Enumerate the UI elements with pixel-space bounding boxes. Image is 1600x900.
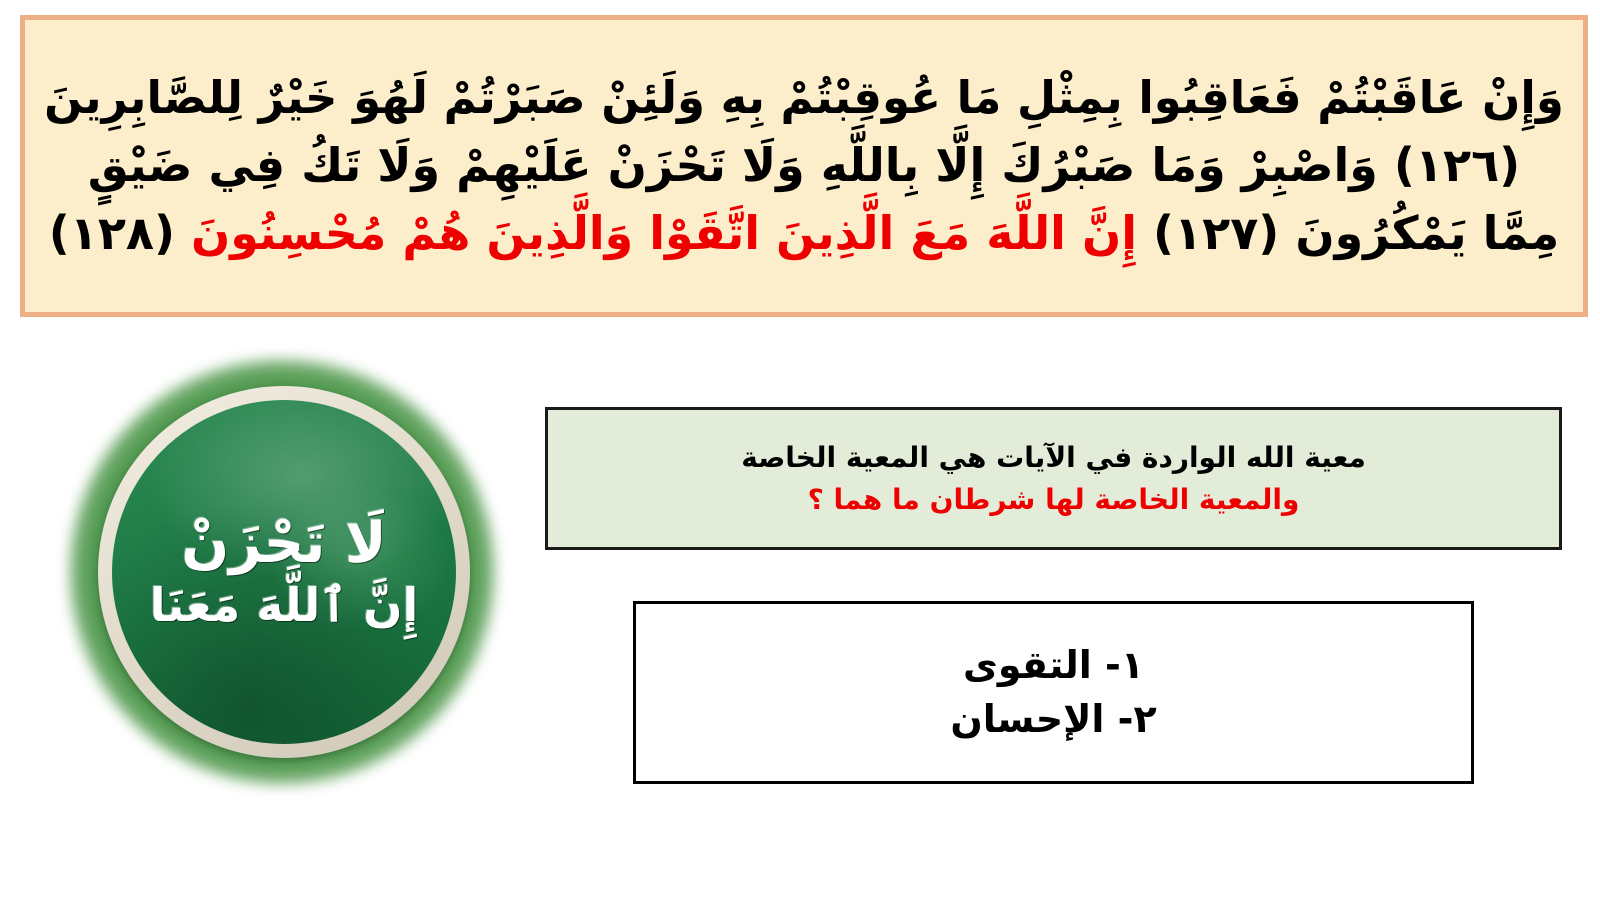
verse-line-1-text: وَإِنْ عَاقَبْتُمْ فَعَاقِبُوا بِمِثْلِ …	[44, 71, 1564, 124]
answer-box: ١- التقوى ٢- الإحسان	[633, 601, 1474, 784]
verse-line-3-highlight: إِنَّ اللَّهَ مَعَ الَّذِينَ اتَّقَوْا و…	[175, 206, 1137, 260]
verse-line-3: مِمَّا يَمْكُرُونَ (١٢٧) إِنَّ اللَّهَ م…	[39, 199, 1569, 267]
question-box: معية الله الواردة في الآيات هي المعية ال…	[545, 407, 1562, 550]
verse-line-2-text: (١٢٦) وَاصْبِرْ وَمَا صَبْرُكَ إِلَّا بِ…	[88, 138, 1520, 192]
badge-line-1: لَا تَحْزَنْ	[181, 512, 386, 576]
badge-face: لَا تَحْزَنْ إِنَّ ٱللَّهَ مَعَنَا	[112, 400, 456, 744]
verse-line-2: (١٢٦) وَاصْبِرْ وَمَا صَبْرُكَ إِلَّا بِ…	[39, 131, 1569, 199]
verse-panel: وَإِنْ عَاقَبْتُمْ فَعَاقِبُوا بِمِثْلِ …	[20, 15, 1588, 317]
answer-item-1: ١- التقوى	[963, 639, 1144, 693]
answer-item-2: ٢- الإحسان	[950, 693, 1156, 747]
badge-line-2: إِنَّ ٱللَّهَ مَعَنَا	[150, 579, 418, 632]
badge-ring: لَا تَحْزَنْ إِنَّ ٱللَّهَ مَعَنَا	[98, 386, 470, 758]
question-statement: معية الله الواردة في الآيات هي المعية ال…	[741, 437, 1366, 479]
la-tahzan-badge: لَا تَحْزَنْ إِنَّ ٱللَّهَ مَعَنَا	[62, 352, 502, 802]
verse-line-3-prefix: مِمَّا يَمْكُرُونَ (١٢٧)	[1137, 206, 1559, 260]
verse-line-3-ayah-number: (١٢٨)	[49, 206, 175, 260]
question-prompt: والمعية الخاصة لها شرطان ما هما ؟	[808, 479, 1300, 521]
verse-line-1: وَإِنْ عَاقَبْتُمْ فَعَاقِبُوا بِمِثْلِ …	[39, 65, 1569, 132]
